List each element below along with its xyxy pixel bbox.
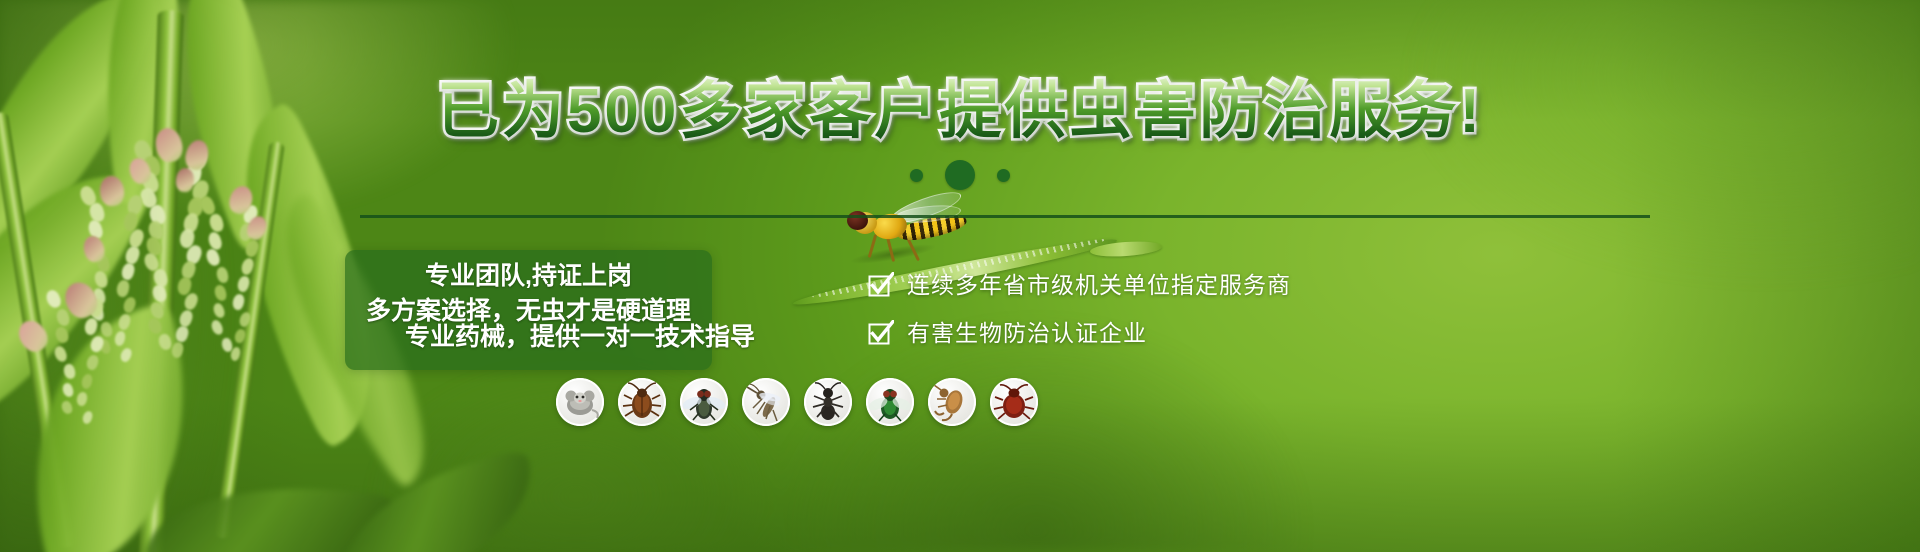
decorative-dots [0,160,1920,190]
flower-bud [157,333,172,351]
insect-leg [868,234,877,258]
feature-bullets: 连续多年省市级机关单位指定服务商 有害生物防治认证企业 [868,272,1291,346]
list-item: 有害生物防治认证企业 [868,320,1291,346]
flower-bud [208,212,225,233]
mosquito-icon[interactable] [742,378,790,426]
dot-small-left [910,169,923,182]
flower-bud [81,409,94,424]
flower-bud [93,270,109,290]
blowfly-icon[interactable] [866,378,914,426]
flower-bud [205,248,222,268]
flea-icon[interactable] [928,378,976,426]
housefly-icon[interactable] [680,378,728,426]
insect-eye [847,211,868,230]
flower-bud [123,244,141,265]
flower-bud [62,382,76,398]
flower-bud [52,344,68,363]
flower-bud [80,372,94,389]
cockroach-icon[interactable] [618,378,666,426]
list-item: 连续多年省市级机关单位指定服务商 [868,272,1291,298]
flower-bud [213,284,228,302]
flower-bud [237,310,252,328]
flower-bud [178,308,195,328]
flower-bud [231,293,245,311]
slogan-line-1: 专业团队,持证上岗 [425,262,632,290]
flower-bud [150,284,167,304]
slogan-box: 专业团队,持证上岗 多方案选择，无虫才是硬道理 [345,250,712,370]
flower-bud [53,326,69,345]
dot-small-right [997,169,1010,182]
slogan-line-2: 多方案选择，无虫才是硬道理 [366,297,691,325]
flower-bud [235,275,250,294]
flower-bud [210,319,225,336]
flower-bud [170,341,185,359]
flower-bud [119,261,135,281]
checkbox-checked-icon [868,320,894,346]
flower-bud [84,354,99,372]
slogan-line-3: 专业药械，提供一对一技术指导 [345,322,815,352]
flower-bud [211,301,226,319]
flower-bud [233,328,247,345]
flower-bud [75,391,88,407]
flower-bud [121,295,137,314]
flower-bud [148,300,165,320]
flower-bud [147,316,164,336]
flower-bud-tip [13,315,52,356]
page-title: 已为500多家客户提供虫害防治服务! [0,74,1920,150]
promo-banner: 已为500多家客户提供虫害防治服务! 已为500多家客户提供虫害防治服务! 专业… [0,0,1920,552]
bullet-label: 连续多年省市级机关单位指定服务商 [907,272,1291,298]
mouse-icon[interactable] [556,378,604,426]
flower-bud [115,278,130,297]
flower-bud [100,321,114,338]
divider-line [360,215,1650,218]
flower-bud [174,324,190,343]
checkbox-checked-icon [868,272,894,298]
flower-bud [63,363,77,380]
flower-bud [206,230,223,251]
ant-icon[interactable] [804,378,852,426]
pest-icon-row [556,378,1038,426]
hoverfly-body [845,198,970,260]
flower-bud [60,400,73,416]
bedbug-icon[interactable] [990,378,1038,426]
flower-bud [113,329,127,346]
flower-bud [240,257,256,277]
flower-bud [117,312,132,330]
dot-large-center [945,160,975,190]
flower-bud [215,266,230,285]
flower-bud [119,346,134,363]
insect-leg [886,236,895,262]
flower-bud [244,239,262,260]
flower-bud [44,288,63,310]
bullet-label: 有害生物防治认证企业 [907,320,1147,346]
